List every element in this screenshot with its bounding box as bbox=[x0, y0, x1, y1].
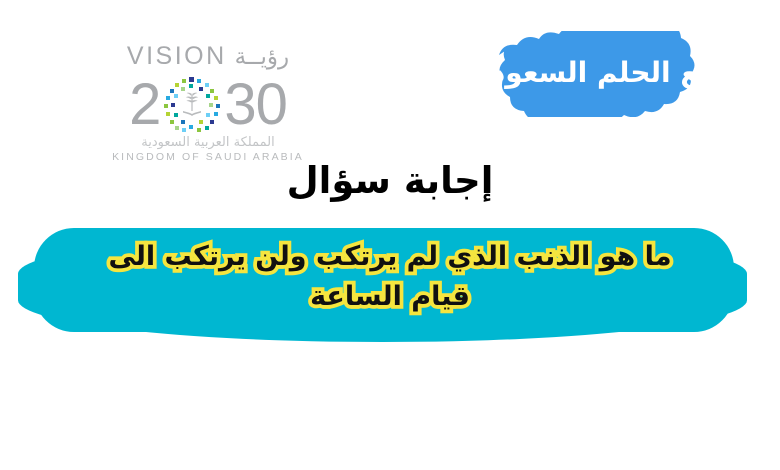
logo-wordmark-row: VISION رؤيــة bbox=[88, 44, 328, 74]
page-title: إجابة سؤال bbox=[0, 158, 780, 209]
logo-kingdom-ar: المملكة العربية السعودية bbox=[88, 135, 328, 151]
site-watermark-badge: موقع الحلم السعودي bbox=[469, 31, 749, 117]
poster-canvas: VISION رؤيــة 2 bbox=[0, 0, 780, 470]
logo-year-digit-2: 2 bbox=[129, 76, 160, 134]
question-line-1: ما هو الذنب الذي لم يرتكب ولن يرتكب الى bbox=[0, 238, 780, 276]
site-watermark-text: موقع الحلم السعودي bbox=[469, 31, 749, 117]
logo-mosaic-zero-icon bbox=[161, 76, 223, 134]
question-text-block: ما هو الذنب الذي لم يرتكب ولن يرتكب الى … bbox=[0, 238, 780, 317]
logo-year-row: 2 bbox=[88, 76, 328, 134]
question-line-2: قيام الساعة bbox=[0, 278, 780, 316]
page-title-text: إجابة سؤال bbox=[287, 159, 494, 202]
logo-year-digits-30: 30 bbox=[224, 76, 287, 134]
vision-2030-logo: VISION رؤيــة 2 bbox=[88, 44, 328, 164]
logo-vision-en: VISION bbox=[127, 44, 227, 69]
page-title-highlight: إجابة سؤال bbox=[275, 158, 506, 209]
logo-vision-ar: رؤيــة bbox=[235, 46, 289, 69]
